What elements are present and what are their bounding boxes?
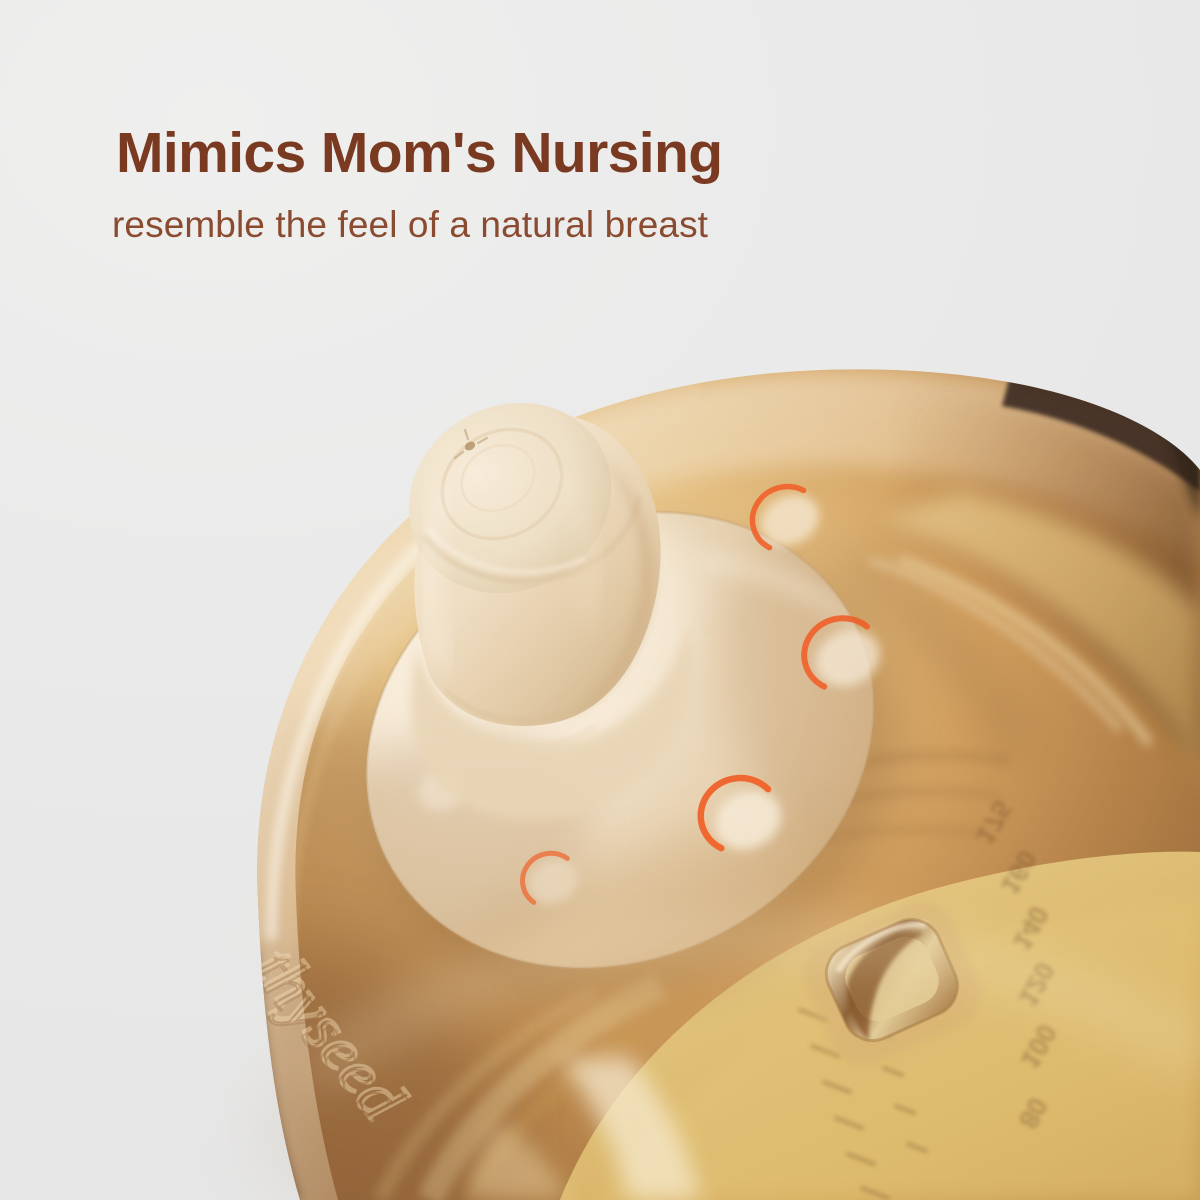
product-hero-canvas: thyseed thyseed 175 160 140 120 100 80	[0, 0, 1200, 1200]
page-title: Mimics Mom's Nursing	[116, 124, 722, 183]
page-subtitle: resemble the feel of a natural breast	[112, 203, 708, 247]
